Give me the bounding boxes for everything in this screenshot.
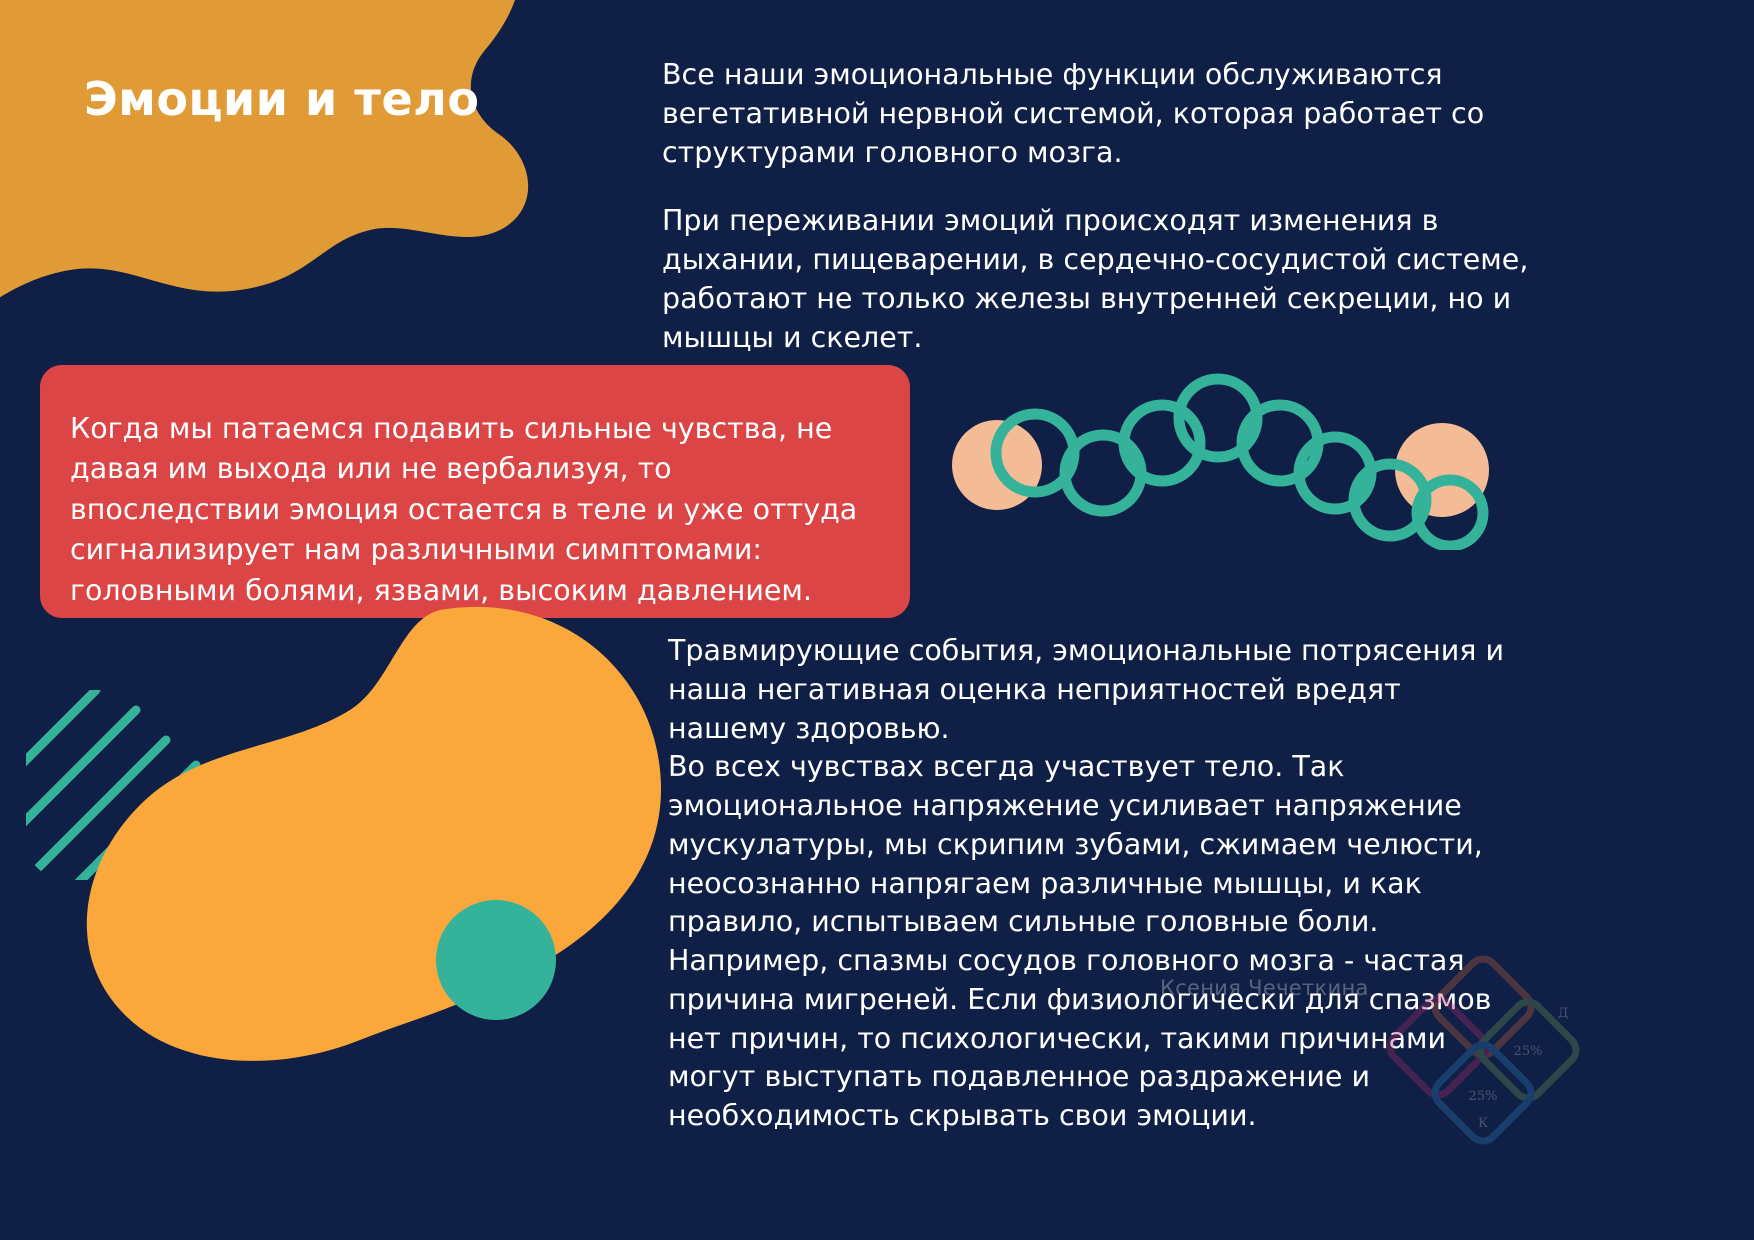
intro-text-block: Все наши эмоциональные функции обслужива… (662, 56, 1542, 357)
page-title: Эмоции и тело (84, 72, 604, 126)
trauma-paragraph-1: Травмирующие события, эмоциональные потр… (668, 632, 1518, 748)
intro-paragraph-1: Все наши эмоциональные функции обслужива… (662, 56, 1542, 172)
orange-blob-top-icon (0, 0, 640, 400)
bead-chain-icon (950, 370, 1530, 550)
red-callout-box: Когда мы патаемся подавить сильные чувст… (40, 365, 910, 618)
slide-canvas: Эмоции и тело Все наши эмоциональные фун… (0, 0, 1754, 1240)
slide-title-text: Эмоции и тело (84, 72, 604, 126)
red-callout-text: Когда мы патаемся подавить сильные чувст… (70, 409, 874, 611)
trauma-text-block: Травмирующие события, эмоциональные потр… (668, 632, 1518, 1136)
intro-paragraph-2: При переживании эмоций происходят измене… (662, 202, 1542, 357)
trauma-paragraph-2: Во всех чувствах всегда участвует тело. … (668, 748, 1518, 1136)
watermark-label-d: Д (1558, 1006, 1569, 1021)
orange-blob-bottom-icon (60, 600, 700, 1080)
teal-circle-icon (436, 900, 556, 1020)
